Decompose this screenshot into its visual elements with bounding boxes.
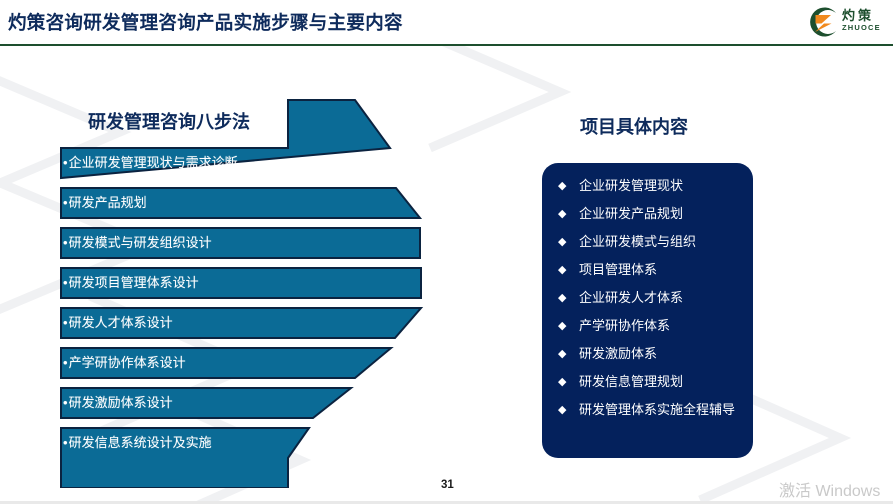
diamond-icon: ◆ xyxy=(558,200,572,228)
step-item-3[interactable]: •研发模式与研发组织设计 xyxy=(63,228,212,258)
company-logo: 灼策 ZHUOCE xyxy=(806,4,888,40)
bullet-icon: • xyxy=(63,155,68,170)
step-item-6[interactable]: •产学研协作体系设计 xyxy=(63,348,186,378)
content-label-6: 产学研协作体系 xyxy=(572,312,748,340)
diamond-icon: ◆ xyxy=(558,340,572,368)
list-item[interactable]: ◆研发管理体系实施全程辅导 xyxy=(558,396,748,424)
step-label-3: 研发模式与研发组织设计 xyxy=(69,235,212,250)
step-label-6: 产学研协作体系设计 xyxy=(69,355,186,370)
content-label-3: 企业研发模式与组织 xyxy=(572,228,748,256)
bullet-icon: • xyxy=(63,235,68,250)
bullet-icon: • xyxy=(63,315,68,330)
step-label-1: 企业研发管理现状与需求诊断 xyxy=(69,155,238,170)
step-label-4: 研发项目管理体系设计 xyxy=(69,275,199,290)
bullet-icon: • xyxy=(63,395,68,410)
step-item-2[interactable]: •研发产品规划 xyxy=(63,188,147,218)
content-label-9: 研发管理体系实施全程辅导 xyxy=(572,396,748,424)
list-item[interactable]: ◆企业研发人才体系 xyxy=(558,284,748,312)
content-label-7: 研发激励体系 xyxy=(572,340,748,368)
project-content-list: ◆企业研发管理现状 ◆企业研发产品规划 ◆企业研发模式与组织 ◆项目管理体系 ◆… xyxy=(558,172,748,424)
list-item[interactable]: ◆产学研协作体系 xyxy=(558,312,748,340)
content-label-1: 企业研发管理现状 xyxy=(572,172,748,200)
arrow-step-labels: •企业研发管理现状与需求诊断 •研发产品规划 •研发模式与研发组织设计 •研发项… xyxy=(55,96,427,488)
step-label-2: 研发产品规划 xyxy=(69,195,147,210)
bullet-icon: • xyxy=(63,435,68,450)
project-content-panel: ◆企业研发管理现状 ◆企业研发产品规划 ◆企业研发模式与组织 ◆项目管理体系 ◆… xyxy=(542,163,753,458)
step-item-4[interactable]: •研发项目管理体系设计 xyxy=(63,268,199,298)
logo-name-cn: 灼策 xyxy=(842,5,874,24)
header-divider xyxy=(0,44,893,46)
step-label-8: 研发信息系统设计及实施 xyxy=(69,435,212,450)
logo-name-en: ZHUOCE xyxy=(842,23,881,32)
step-item-1[interactable]: •企业研发管理现状与需求诊断 xyxy=(63,148,238,178)
step-item-5[interactable]: •研发人才体系设计 xyxy=(63,308,173,338)
page-title: 灼策咨询研发管理咨询产品实施步骤与主要内容 xyxy=(8,9,403,35)
diamond-icon: ◆ xyxy=(558,368,572,396)
step-item-8[interactable]: •研发信息系统设计及实施 xyxy=(63,428,212,458)
list-item[interactable]: ◆企业研发模式与组织 xyxy=(558,228,748,256)
content-label-4: 项目管理体系 xyxy=(572,256,748,284)
windows-activation-watermark: 激活 Windows xyxy=(779,477,880,501)
right-section-heading: 项目具体内容 xyxy=(580,113,688,139)
diamond-icon: ◆ xyxy=(558,256,572,284)
diamond-icon: ◆ xyxy=(558,396,572,424)
step-label-5: 研发人才体系设计 xyxy=(69,315,173,330)
eight-step-arrow-diagram: •企业研发管理现状与需求诊断 •研发产品规划 •研发模式与研发组织设计 •研发项… xyxy=(55,96,427,488)
bullet-icon: • xyxy=(63,355,68,370)
step-item-7[interactable]: •研发激励体系设计 xyxy=(63,388,173,418)
page-number: 31 xyxy=(441,479,454,491)
step-label-7: 研发激励体系设计 xyxy=(69,395,173,410)
content-label-5: 企业研发人才体系 xyxy=(572,284,748,312)
logo-swoosh-z-icon xyxy=(806,6,840,38)
diamond-icon: ◆ xyxy=(558,284,572,312)
list-item[interactable]: ◆研发激励体系 xyxy=(558,340,748,368)
slide-canvas: 灼策咨询研发管理咨询产品实施步骤与主要内容 灼策 ZHUOCE 研发管理咨询八步… xyxy=(0,0,893,504)
list-item[interactable]: ◆企业研发产品规划 xyxy=(558,200,748,228)
list-item[interactable]: ◆研发信息管理规划 xyxy=(558,368,748,396)
content-label-8: 研发信息管理规划 xyxy=(572,368,748,396)
list-item[interactable]: ◆企业研发管理现状 xyxy=(558,172,748,200)
diamond-icon: ◆ xyxy=(558,228,572,256)
bullet-icon: • xyxy=(63,195,68,210)
list-item[interactable]: ◆项目管理体系 xyxy=(558,256,748,284)
diamond-icon: ◆ xyxy=(558,172,572,200)
bullet-icon: • xyxy=(63,275,68,290)
slide-header: 灼策咨询研发管理咨询产品实施步骤与主要内容 灼策 ZHUOCE xyxy=(0,0,893,45)
content-label-2: 企业研发产品规划 xyxy=(572,200,748,228)
diamond-icon: ◆ xyxy=(558,312,572,340)
